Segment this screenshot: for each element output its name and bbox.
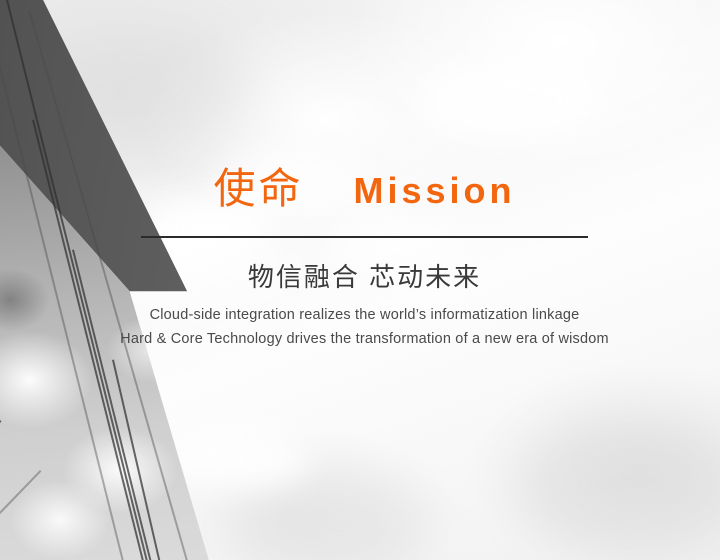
title-chinese: 使命	[213, 168, 303, 210]
content-layer: 使命 Mission 物信融合 芯动未来 Cloud-side integrat…	[0, 0, 720, 560]
description-line-2: Hard & Core Technology drives the transf…	[41, 327, 688, 351]
mission-banner: 使命 Mission 物信融合 芯动未来 Cloud-side integrat…	[0, 0, 720, 560]
title-divider	[141, 236, 588, 238]
mission-title: 使命 Mission	[141, 168, 588, 210]
title-english: Mission	[354, 173, 516, 209]
subtitle-chinese: 物信融合 芯动未来	[141, 260, 588, 295]
description-line-1: Cloud-side integration realizes the worl…	[41, 303, 688, 327]
description-block: Cloud-side integration realizes the worl…	[41, 303, 688, 351]
